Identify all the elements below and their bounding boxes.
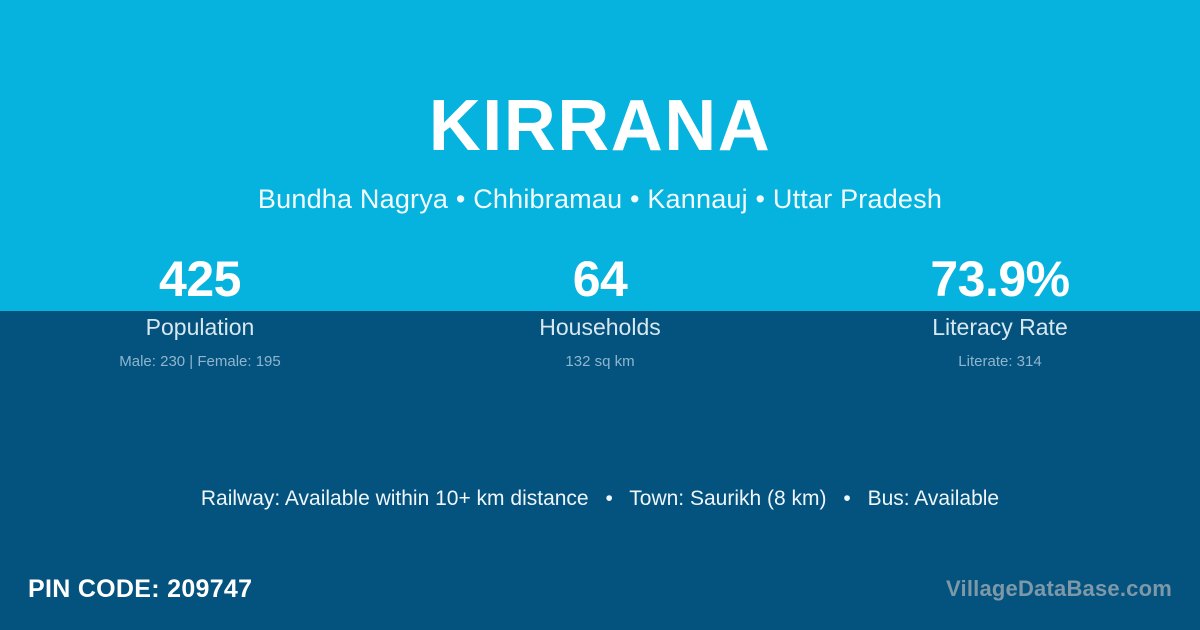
infra-town: Town: Saurikh (8 km) bbox=[629, 487, 826, 510]
bullet-separator-icon: • bbox=[832, 484, 861, 514]
stat-population-value: 425 bbox=[0, 248, 400, 310]
stat-households-detail: 132 sq km bbox=[400, 351, 800, 373]
stat-literacy-rate: 73.9% Literacy Rate Literate: 314 bbox=[800, 248, 1200, 373]
stat-population-label: Population bbox=[0, 312, 400, 342]
stat-literacy-rate-label: Literacy Rate bbox=[800, 312, 1200, 342]
pin-code: PIN CODE: 209747 bbox=[28, 572, 252, 606]
stat-literacy-rate-detail: Literate: 314 bbox=[800, 351, 1200, 373]
breadcrumb: Bundha Nagrya • Chhibramau • Kannauj • U… bbox=[0, 181, 1200, 217]
stat-households-label: Households bbox=[400, 312, 800, 342]
stat-households: 64 Households 132 sq km bbox=[400, 248, 800, 373]
stat-households-value: 64 bbox=[400, 248, 800, 310]
page-title: KIRRANA bbox=[0, 83, 1200, 169]
stat-literacy-rate-value: 73.9% bbox=[800, 248, 1200, 310]
infra-railway: Railway: Available within 10+ km distanc… bbox=[201, 487, 589, 510]
village-info-card: KIRRANA Bundha Nagrya • Chhibramau • Kan… bbox=[0, 0, 1200, 630]
infrastructure-line: Railway: Available within 10+ km distanc… bbox=[0, 484, 1200, 514]
footer: PIN CODE: 209747 VillageDataBase.com bbox=[0, 572, 1200, 612]
stat-population: 425 Population Male: 230 | Female: 195 bbox=[0, 248, 400, 373]
site-brand: VillageDataBase.com bbox=[946, 574, 1172, 604]
bullet-separator-icon: • bbox=[594, 484, 623, 514]
stats-row: 425 Population Male: 230 | Female: 195 6… bbox=[0, 248, 1200, 373]
infra-bus: Bus: Available bbox=[868, 487, 1000, 510]
stat-population-detail: Male: 230 | Female: 195 bbox=[0, 351, 400, 373]
